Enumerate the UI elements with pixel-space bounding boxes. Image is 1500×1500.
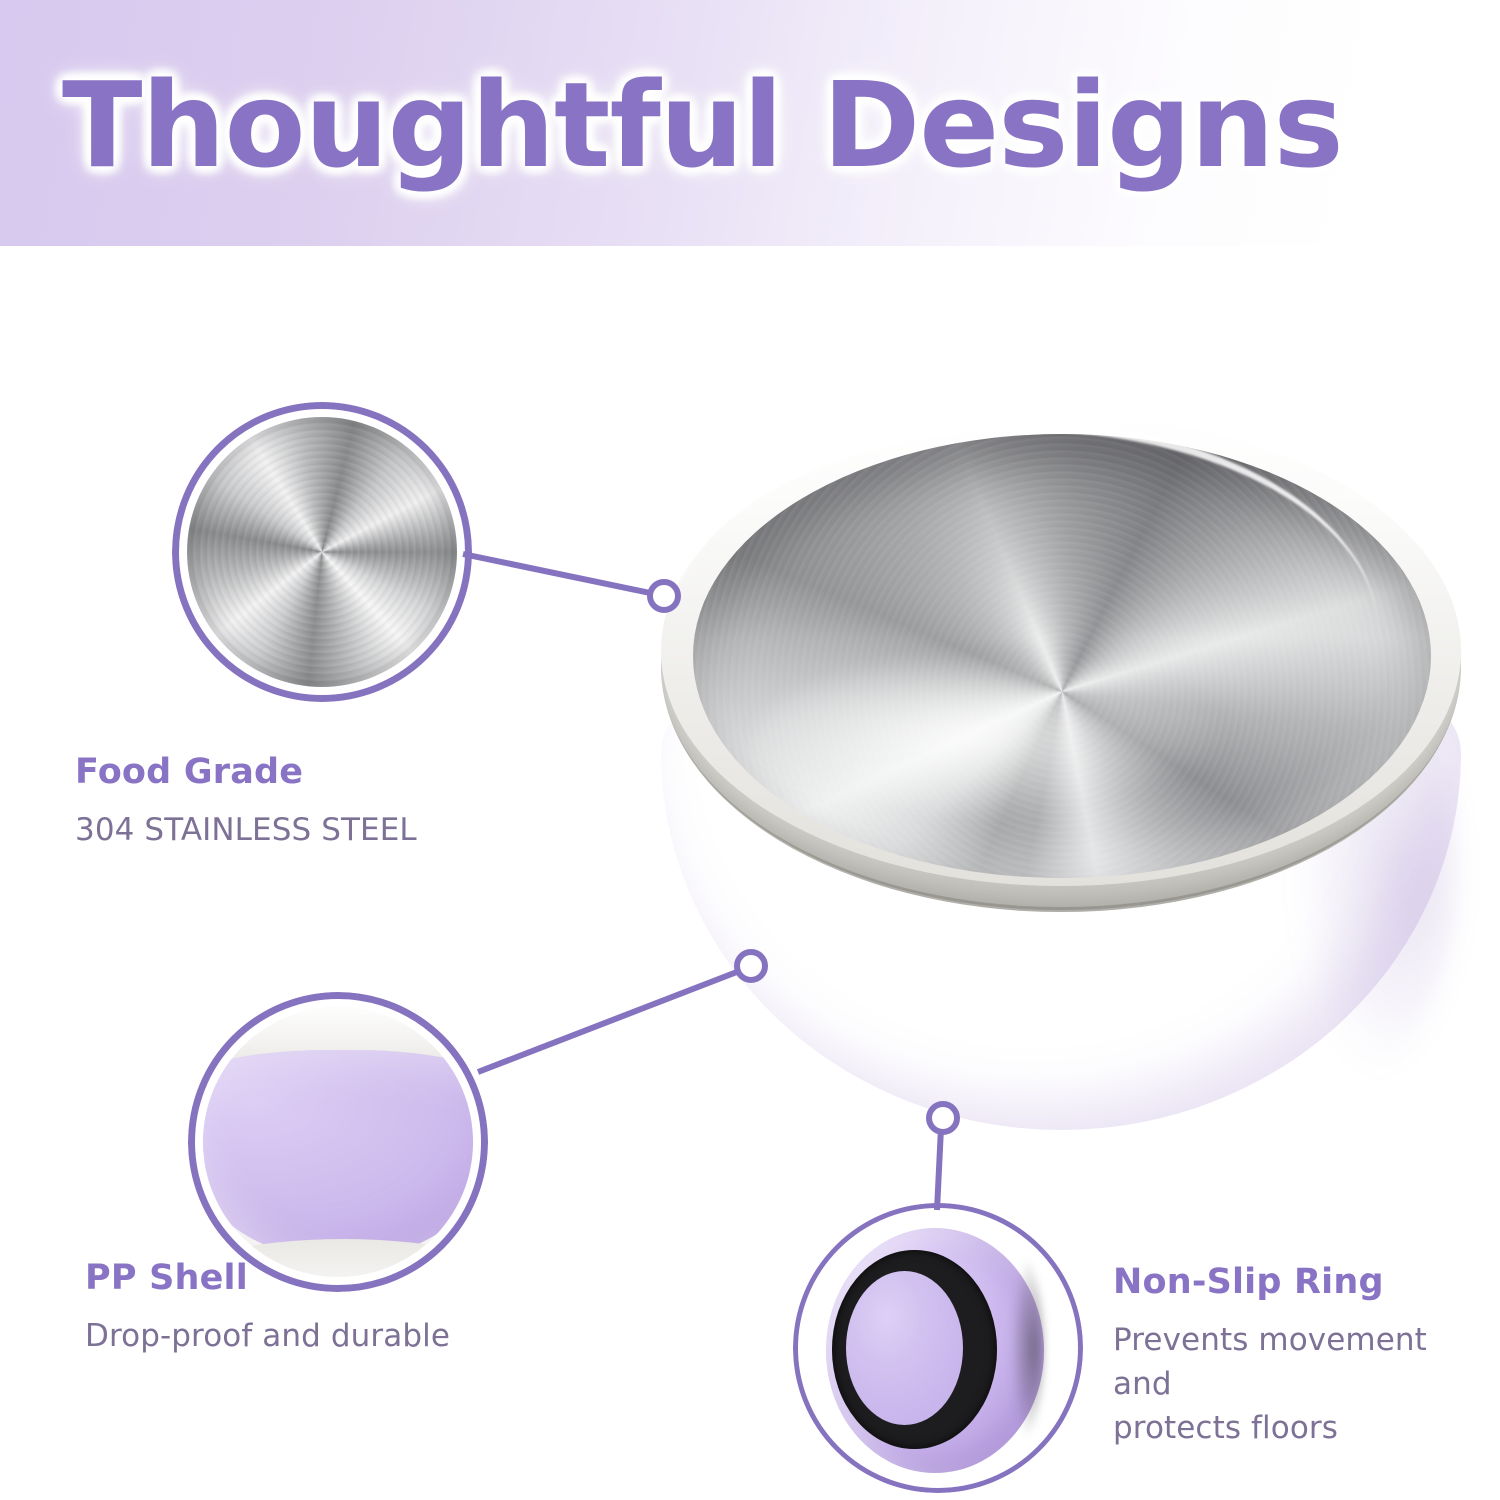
feature-title-pp-shell: PP Shell xyxy=(85,1258,450,1298)
marker-ring-pp-shell xyxy=(737,952,765,980)
feature-desc-line-1: Prevents movement and xyxy=(1113,1318,1485,1406)
feature-block-non-slip-ring: Non-Slip Ring Prevents movement and prot… xyxy=(1113,1262,1485,1450)
marker-ring-food-grade xyxy=(650,582,678,610)
feature-desc-line-2: protects floors xyxy=(1113,1406,1485,1450)
connector-line-non-slip-ring xyxy=(937,1128,941,1210)
connector-line-food-grade xyxy=(463,554,655,594)
feature-block-pp-shell: PP Shell Drop-proof and durable xyxy=(85,1258,450,1358)
connector-line-pp-shell xyxy=(478,970,742,1072)
feature-desc-pp-shell: Drop-proof and durable xyxy=(85,1314,450,1358)
marker-ring-non-slip-ring xyxy=(929,1104,957,1132)
feature-title-non-slip-ring: Non-Slip Ring xyxy=(1113,1262,1485,1302)
feature-desc-food-grade: 304 STAINLESS STEEL xyxy=(75,808,417,852)
feature-block-food-grade: Food Grade 304 STAINLESS STEEL xyxy=(75,752,417,852)
feature-title-food-grade: Food Grade xyxy=(75,752,417,792)
feature-desc-non-slip-ring: Prevents movement and protects floors xyxy=(1113,1318,1485,1450)
